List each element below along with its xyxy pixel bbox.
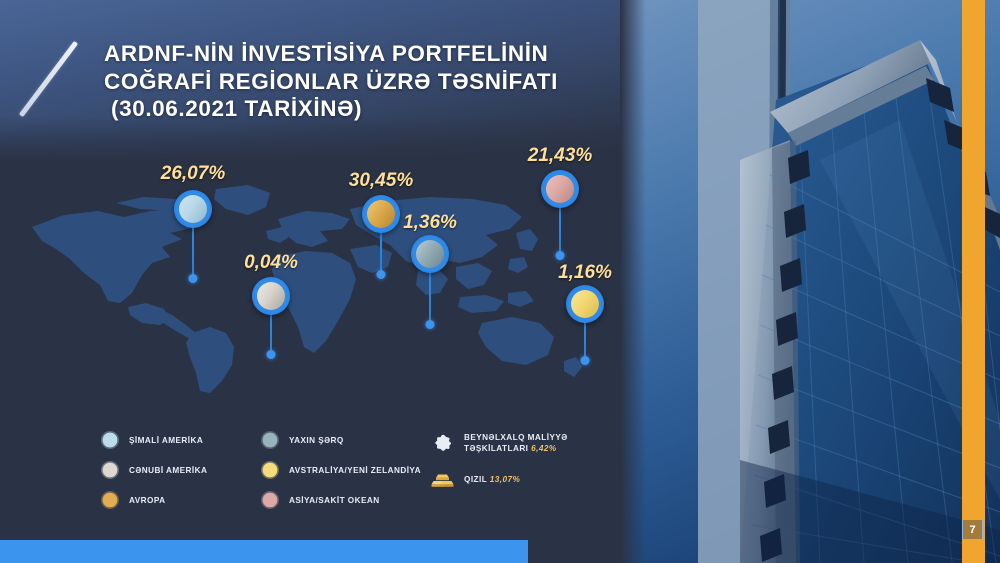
legend-swatch-icon xyxy=(100,430,120,450)
pin-color-swatch xyxy=(416,240,444,268)
legend-label: CƏNUBİ AMERİKA xyxy=(129,465,207,476)
legend-item-europe[interactable]: AVROPA xyxy=(100,485,207,515)
legend-label-line-2: TƏŞKİLATLARI xyxy=(464,444,528,453)
legend-column-2: YAXIN ŞƏRQ AVSTRALİYA/YENİ ZELANDİYA ASİ… xyxy=(260,425,421,515)
pin-anchor-dot xyxy=(581,356,590,365)
pin-bulb-australia[interactable] xyxy=(566,285,604,323)
legend-item-north-america[interactable]: ŞİMALİ AMERİKA xyxy=(100,425,207,455)
gold-bars-icon xyxy=(430,466,456,492)
title-line-3: (30.06.2021 TARİXİNƏ) xyxy=(104,95,574,123)
pin-percent-australia: 1,16% xyxy=(558,262,612,284)
page-number-badge: 7 xyxy=(962,519,983,540)
legend-label: AVROPA xyxy=(129,495,166,506)
legend-swatch-icon xyxy=(260,430,280,450)
pin-color-swatch xyxy=(571,290,599,318)
pin-anchor-dot xyxy=(267,350,276,359)
slide: ARDNF-NİN İNVESTİSİYA PORTFELİNİN COĞRAF… xyxy=(0,0,1000,563)
legend: ŞİMALİ AMERİKA CƏNUBİ AMERİKA AVROPA xyxy=(100,425,580,515)
title-line-1: ARDNF-NİN İNVESTİSİYA PORTFELİNİN xyxy=(104,40,574,68)
pin-bulb-north-america[interactable] xyxy=(174,190,212,228)
legend-item-international-organizations[interactable]: BEYNƏLXALQ MALİYYƏ TƏŞKİLATLARI 6,42% xyxy=(430,425,568,461)
legend-column-3: BEYNƏLXALQ MALİYYƏ TƏŞKİLATLARI 6,42% xyxy=(430,425,568,497)
legend-label: YAXIN ŞƏRQ xyxy=(289,435,344,446)
pin-bulb-south-america[interactable] xyxy=(252,277,290,315)
legend-swatch-icon xyxy=(260,490,280,510)
legend-value: 6,42% xyxy=(531,444,556,453)
legend-item-gold[interactable]: QIZIL 13,07% xyxy=(430,461,568,497)
map-pin-australia[interactable]: 1,16% xyxy=(530,262,620,362)
pin-color-swatch xyxy=(257,282,285,310)
pin-color-swatch xyxy=(179,195,207,223)
pin-stem xyxy=(192,225,194,278)
legend-value: 13,07% xyxy=(490,475,520,484)
map-pin-south-america[interactable]: 0,04% xyxy=(216,252,326,357)
pin-percent-south-america: 0,04% xyxy=(244,252,298,274)
pin-color-swatch xyxy=(546,175,574,203)
legend-swatch-icon xyxy=(100,490,120,510)
pin-bulb-middle-east[interactable] xyxy=(411,235,449,273)
title-line-2: COĞRAFİ REGİONLAR ÜZRƏ TƏSNİFATI xyxy=(104,68,574,96)
legend-label-line-1: QIZIL xyxy=(464,475,487,484)
legend-swatch-icon xyxy=(260,460,280,480)
legend-label: AVSTRALİYA/YENİ ZELANDİYA xyxy=(289,465,421,476)
pin-stem xyxy=(270,312,272,354)
legend-label: ŞİMALİ AMERİKA xyxy=(129,435,203,446)
legend-swatch-icon xyxy=(100,460,120,480)
pin-stem xyxy=(559,205,561,255)
legend-item-south-america[interactable]: CƏNUBİ AMERİKA xyxy=(100,455,207,485)
orange-accent-bar xyxy=(962,0,985,563)
content-panel: ARDNF-NİN İNVESTİSİYA PORTFELİNİN COĞRAF… xyxy=(0,0,620,563)
legend-label: BEYNƏLXALQ MALİYYƏ TƏŞKİLATLARI 6,42% xyxy=(464,432,568,454)
legend-item-asia-pacific[interactable]: ASİYA/SAKİT OKEAN xyxy=(260,485,421,515)
legend-label-line-1: BEYNƏLXALQ MALİYYƏ xyxy=(464,433,568,442)
map-pin-asia-pacific[interactable]: 21,43% xyxy=(505,145,615,260)
pin-percent-asia-pacific: 21,43% xyxy=(528,145,592,167)
building-photo xyxy=(620,0,1000,563)
pin-stem xyxy=(429,270,431,324)
legend-label: ASİYA/SAKİT OKEAN xyxy=(289,495,380,506)
legend-label: QIZIL 13,07% xyxy=(464,474,520,485)
legend-item-middle-east[interactable]: YAXIN ŞƏRQ xyxy=(260,425,421,455)
pin-anchor-dot xyxy=(426,320,435,329)
pin-bulb-asia-pacific[interactable] xyxy=(541,170,579,208)
pin-anchor-dot xyxy=(556,251,565,260)
photo-left-edge-fade xyxy=(620,0,646,563)
pin-percent-europe: 30,45% xyxy=(349,170,413,192)
building-photo-illustration xyxy=(620,0,1000,563)
map-pin-middle-east[interactable]: 1,36% xyxy=(375,212,485,332)
page-title: ARDNF-NİN İNVESTİSİYA PORTFELİNİN COĞRAF… xyxy=(104,40,574,123)
bottom-accent-bar xyxy=(0,540,528,563)
legend-column-1: ŞİMALİ AMERİKA CƏNUBİ AMERİKA AVROPA xyxy=(100,425,207,515)
legend-item-australia[interactable]: AVSTRALİYA/YENİ ZELANDİYA xyxy=(260,455,421,485)
pin-stem xyxy=(584,320,586,360)
pin-anchor-dot xyxy=(189,274,198,283)
pin-percent-north-america: 26,07% xyxy=(161,163,225,185)
pin-percent-middle-east: 1,36% xyxy=(403,212,457,234)
globe-icon xyxy=(430,430,456,456)
